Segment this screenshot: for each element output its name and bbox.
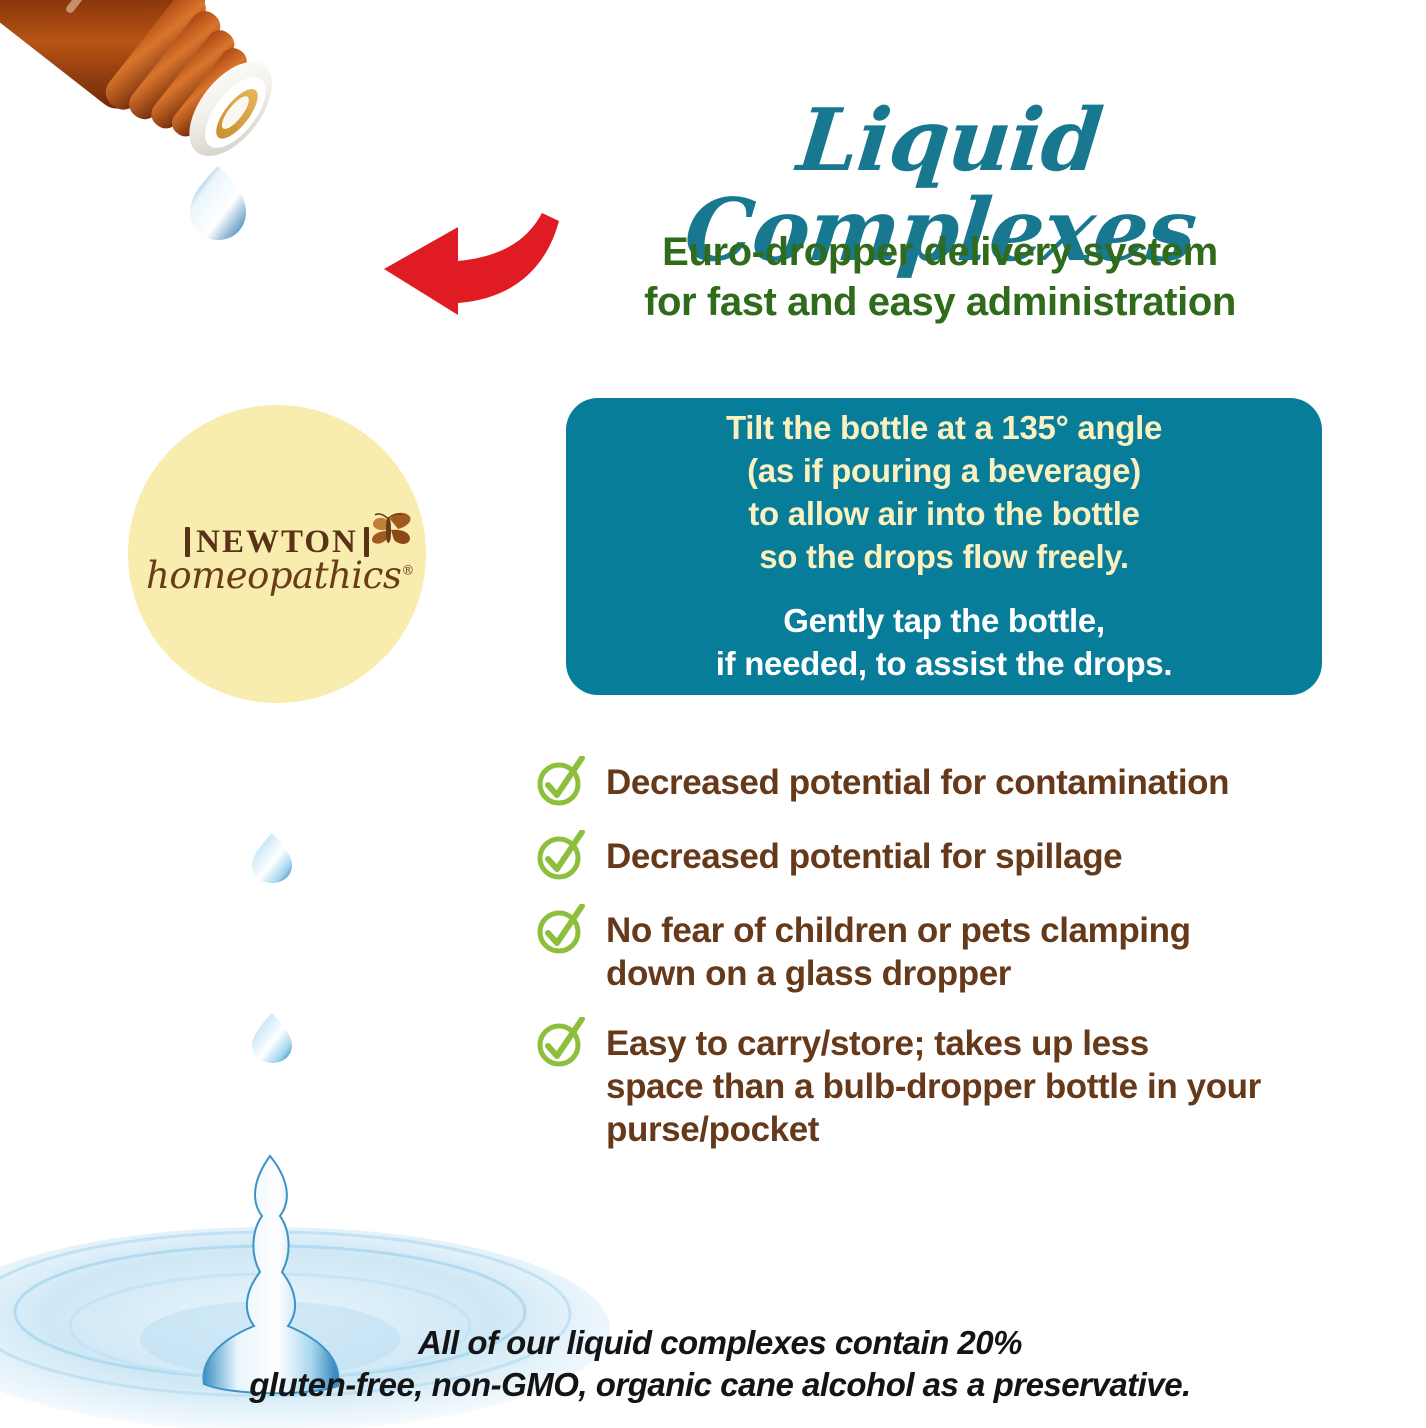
list-item: Decreased potential for contamination	[534, 760, 1384, 808]
instruction-line-2: (as if pouring a beverage)	[726, 450, 1162, 493]
list-item: Decreased potential for spillage	[534, 834, 1384, 882]
logo-brand-sub-text: homeopathics	[146, 554, 401, 597]
benefit-text: No fear of children or pets clamping dow…	[606, 908, 1191, 995]
logo-bar-left	[185, 527, 190, 557]
check-circle-icon	[534, 756, 586, 808]
water-drop-icon	[250, 1012, 294, 1064]
amber-dropper-bottle-image	[0, 0, 380, 360]
instruction-line-4: so the drops flow freely.	[726, 536, 1162, 579]
list-item: No fear of children or pets clamping dow…	[534, 908, 1384, 995]
footer-line-1: All of our liquid complexes contain 20%	[120, 1322, 1320, 1364]
benefits-list: Decreased potential for contamination De…	[534, 760, 1384, 1151]
benefit-text: Easy to carry/store; takes up less space…	[606, 1021, 1261, 1151]
benefit-text: Decreased potential for spillage	[606, 834, 1122, 879]
brand-logo-badge: NEWTON homeopathics®	[128, 405, 426, 703]
water-drop-icon	[250, 832, 294, 884]
page-subtitle: Euro-dropper delivery system for fast an…	[520, 228, 1360, 327]
check-circle-icon	[534, 904, 586, 956]
benefit-line: Decreased potential for contamination	[606, 762, 1229, 805]
subtitle-line-2: for fast and easy administration	[520, 278, 1360, 328]
check-circle-icon	[534, 1017, 586, 1069]
instruction-line-1: Tilt the bottle at a 135° angle	[726, 407, 1162, 450]
instruction-tap-line-2: if needed, to assist the drops.	[716, 643, 1172, 686]
list-item: Easy to carry/store; takes up less space…	[534, 1021, 1384, 1151]
benefit-line: down on a glass dropper	[606, 953, 1191, 996]
infographic-page: Liquid Complexes Euro-dropper delivery s…	[0, 0, 1426, 1428]
footer-disclaimer: All of our liquid complexes contain 20% …	[120, 1322, 1320, 1406]
instruction-primary-text: Tilt the bottle at a 135° angle (as if p…	[726, 407, 1162, 579]
instruction-card: Tilt the bottle at a 135° angle (as if p…	[566, 398, 1322, 695]
butterfly-icon	[366, 511, 412, 553]
check-circle-icon	[534, 830, 586, 882]
benefit-text: Decreased potential for contamination	[606, 760, 1229, 805]
water-drop-icon	[190, 166, 246, 240]
subtitle-line-1: Euro-dropper delivery system	[520, 228, 1360, 278]
logo-brand-sub: homeopathics®	[146, 557, 408, 595]
benefit-line: Decreased potential for spillage	[606, 836, 1122, 879]
instruction-tap-line-1: Gently tap the bottle,	[716, 600, 1172, 643]
footer-line-2: gluten-free, non-GMO, organic cane alcoh…	[120, 1364, 1320, 1406]
benefit-line: Easy to carry/store; takes up less	[606, 1023, 1261, 1066]
instruction-line-3: to allow air into the bottle	[726, 493, 1162, 536]
benefit-line: No fear of children or pets clamping	[606, 910, 1191, 953]
instruction-secondary-text: Gently tap the bottle, if needed, to ass…	[716, 600, 1172, 686]
benefit-line: purse/pocket	[606, 1109, 1261, 1152]
benefit-line: space than a bulb-dropper bottle in your	[606, 1066, 1261, 1109]
registered-mark: ®	[401, 564, 414, 579]
